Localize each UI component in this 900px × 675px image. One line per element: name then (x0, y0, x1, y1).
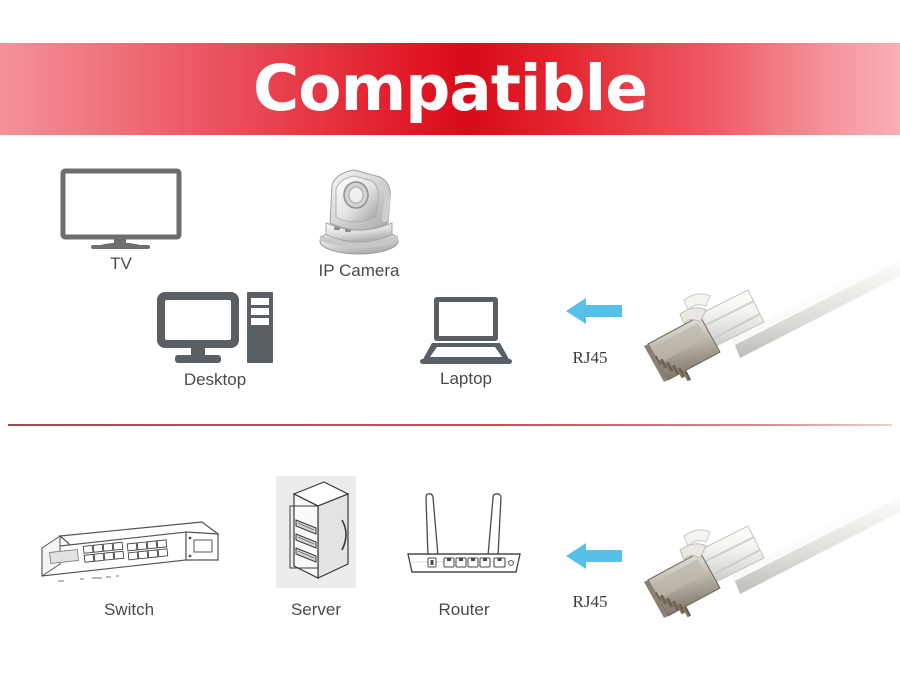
tv-icon (58, 168, 184, 250)
device-label-tv: TV (58, 254, 184, 274)
network-switch-icon (36, 520, 222, 588)
rj45-cable-bottom (636, 488, 900, 630)
header-banner: Compatible (0, 43, 900, 135)
connector-label-rj45-top: RJ45 (540, 348, 640, 368)
section-divider (8, 424, 892, 426)
device-label-ip-camera: IP Camera (302, 261, 416, 281)
arrow-left-bottom (566, 540, 622, 572)
arrow-left-icon (566, 540, 622, 572)
laptop-icon (418, 295, 514, 365)
device-ip-camera: IP Camera (302, 165, 416, 257)
device-tv: TV (58, 168, 184, 250)
device-label-desktop: Desktop (155, 370, 275, 390)
server-rack-icon (276, 476, 356, 588)
arrow-left-icon (566, 295, 622, 327)
device-label-server: Server (276, 600, 356, 620)
wifi-router-icon (404, 478, 524, 588)
rj45-cable-top (636, 252, 900, 394)
ip-camera-icon (302, 165, 416, 257)
connector-label-rj45-bottom: RJ45 (540, 592, 640, 612)
device-server: Server (276, 476, 356, 588)
page-title: Compatible (0, 43, 900, 135)
compatibility-infographic: Compatible TV (0, 0, 900, 675)
device-laptop: Laptop (418, 295, 514, 365)
device-label-laptop: Laptop (418, 369, 514, 389)
rj45-cable-icon (636, 488, 900, 630)
device-switch: Switch (36, 520, 222, 588)
device-label-switch: Switch (36, 600, 222, 620)
device-desktop: Desktop (155, 290, 275, 366)
arrow-left-top (566, 295, 622, 327)
device-label-router: Router (404, 600, 524, 620)
desktop-icon (155, 290, 275, 366)
device-router: Router (404, 478, 524, 588)
rj45-cable-icon (636, 252, 900, 394)
